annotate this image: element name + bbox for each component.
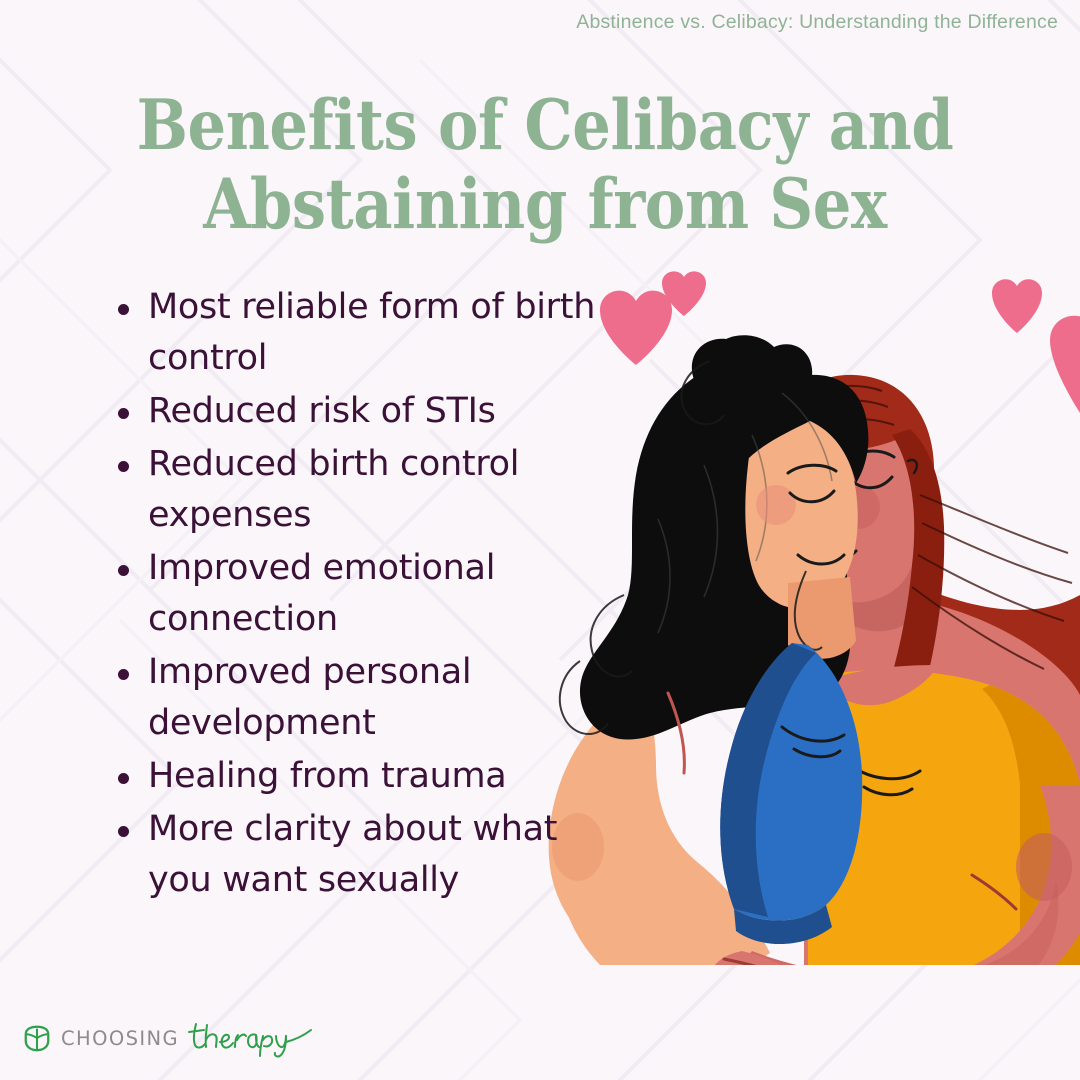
list-item: Healing from trauma <box>104 751 624 802</box>
heart-small-right <box>992 279 1042 333</box>
header-title: Abstinence vs. Celibacy: Understanding t… <box>576 11 1058 34</box>
list-item: Improved emotional connection <box>104 543 624 645</box>
list-item: More clarity about what you want sexuall… <box>104 804 624 906</box>
list-item: Most reliable form of birth control <box>104 282 624 384</box>
infographic-canvas: Abstinence vs. Celibacy: Understanding t… <box>0 0 1080 1080</box>
logo-word-choosing: CHOOSING <box>61 1027 179 1050</box>
woman-right-elbow-shade <box>1016 833 1072 901</box>
logo-word-therapy <box>187 1018 315 1058</box>
list-item: Reduced risk of STIs <box>104 386 624 437</box>
heart-large-right-cutoff <box>1050 316 1080 435</box>
lotus-leaf-icon <box>22 1023 52 1053</box>
page-title-line-1: Benefits of Celibacy and <box>127 86 963 165</box>
header-bar: Abstinence vs. Celibacy: Understanding t… <box>0 0 1080 44</box>
woman-left-blush <box>756 485 796 525</box>
list-item: Reduced birth control expenses <box>104 439 624 541</box>
page-title-line-2: Abstaining from Sex <box>127 165 963 244</box>
logo-therapy-script <box>187 1018 315 1058</box>
list-item: Improved personal development <box>104 647 624 749</box>
choosing-therapy-logo[interactable]: CHOOSING <box>22 1018 315 1058</box>
page-title: Benefits of Celibacy and Abstaining from… <box>70 86 1020 244</box>
benefits-list: Most reliable form of birth control Redu… <box>104 282 624 908</box>
